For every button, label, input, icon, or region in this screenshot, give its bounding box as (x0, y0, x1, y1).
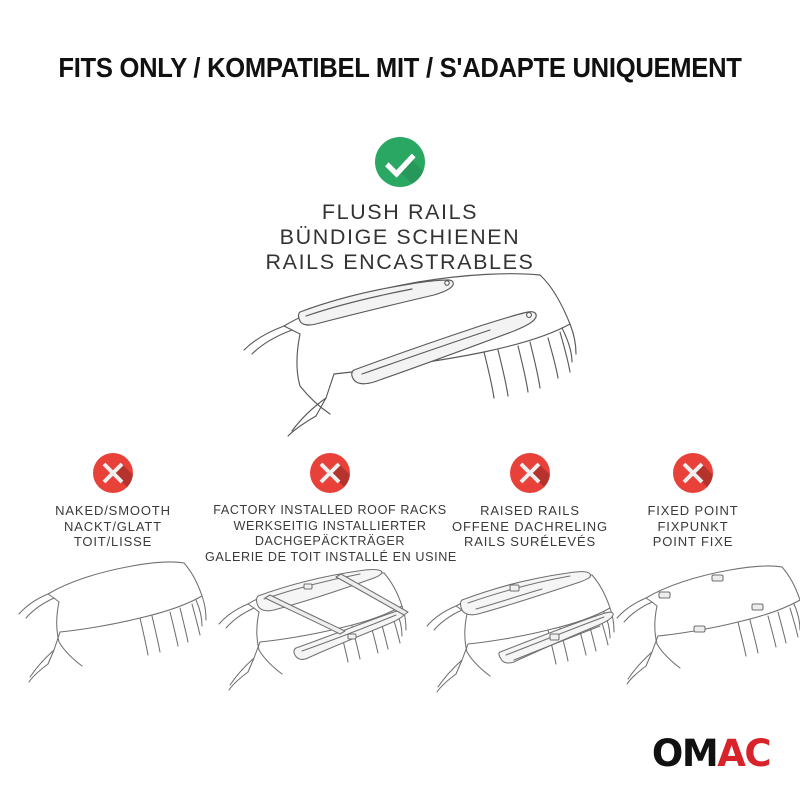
incompatible-item-factory-roof-racks: FACTORY INSTALLED ROOF RACKS WERKSEITIG … (205, 452, 455, 565)
page-title: FITS ONLY / KOMPATIBEL MIT / S'ADAPTE UN… (28, 52, 772, 84)
incompatible-label-fixed-point: FIXED POINT FIXPUNKT POINT FIXE (610, 503, 776, 550)
label-line: RAILS SURÉLEVÉS (432, 534, 628, 550)
red-x-circle-icon (92, 452, 134, 494)
label-line: NACKT/GLATT (13, 519, 213, 535)
car-roof-flush-rails-illustration (222, 268, 582, 438)
label-line: POINT FIXE (610, 534, 776, 550)
label-line: FACTORY INSTALLED ROOF RACKS (205, 503, 455, 519)
car-roof-raised-rails-illustration (418, 552, 624, 702)
incompatible-item-raised-rails: RAISED RAILS OFFENE DACHRELING RAILS SUR… (432, 452, 628, 550)
car-roof-naked-smooth-illustration (12, 552, 212, 702)
omac-logo: OMAC (652, 735, 770, 772)
label-line: FIXPUNKT (610, 519, 776, 535)
car-roof-fixed-point-illustration (612, 552, 800, 702)
incompatible-illustrations-row (0, 552, 800, 702)
omac-logo-dark: OM (652, 732, 717, 775)
red-x-circle-icon (509, 452, 551, 494)
label-line: RAISED RAILS (432, 503, 628, 519)
label-line: FIXED POINT (610, 503, 776, 519)
incompatible-item-naked-smooth: NAKED/SMOOTH NACKT/GLATT TOIT/LISSE (13, 452, 213, 550)
label-line: DACHGEPÄCKTRÄGER (205, 534, 455, 550)
omac-logo-red: AC (717, 732, 770, 775)
incompatible-label-raised-rails: RAISED RAILS OFFENE DACHRELING RAILS SUR… (432, 503, 628, 550)
compatible-label-line-2: BÜNDIGE SCHIENEN (0, 225, 800, 250)
compatible-label: FLUSH RAILS BÜNDIGE SCHIENEN RAILS ENCAS… (0, 200, 800, 275)
green-check-circle-icon (374, 136, 426, 188)
incompatible-item-fixed-point: FIXED POINT FIXPUNKT POINT FIXE (610, 452, 776, 550)
car-roof-factory-roof-racks-illustration (208, 552, 424, 702)
red-x-circle-icon (309, 452, 351, 494)
label-line: WERKSEITIG INSTALLIERTER (205, 519, 455, 535)
label-line: TOIT/LISSE (13, 534, 213, 550)
label-line: NAKED/SMOOTH (13, 503, 213, 519)
red-x-circle-icon (672, 452, 714, 494)
incompatible-label-naked-smooth: NAKED/SMOOTH NACKT/GLATT TOIT/LISSE (13, 503, 213, 550)
label-line: OFFENE DACHRELING (432, 519, 628, 535)
compatible-section: FLUSH RAILS BÜNDIGE SCHIENEN RAILS ENCAS… (0, 136, 800, 275)
infographic-root: FITS ONLY / KOMPATIBEL MIT / S'ADAPTE UN… (0, 0, 800, 800)
compatible-label-line-1: FLUSH RAILS (0, 200, 800, 225)
